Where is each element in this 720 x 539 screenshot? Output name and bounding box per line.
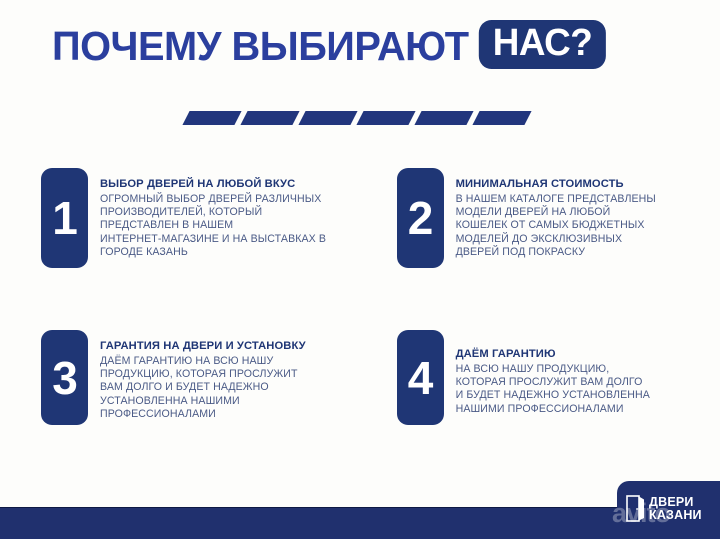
card-line: МОДЕЛЕЙ ДО ЭКСКЛЮЗИВНЫХ xyxy=(456,233,656,246)
card-body: ДАЁМ ГАРАНТИЮ НА ВСЮ НАШУ ПРОДУКЦИЮ, КОТ… xyxy=(444,330,650,416)
stripe xyxy=(356,111,415,125)
card-line: ИНТЕРНЕТ-МАГАЗИНЕ И НА ВЫСТАВКАХ В xyxy=(100,233,326,246)
card-line: ДВЕРЕЙ ПОД ПОКРАСКУ xyxy=(456,246,656,259)
card-line: И БУДЕТ НАДЕЖНО УСТАНОВЛЕННА xyxy=(456,389,650,402)
door-icon xyxy=(626,495,645,522)
benefits-grid: 1 ВЫБОР ДВЕРЕЙ НА ЛЮБОЙ ВКУС ОГРОМНЫЙ ВЫ… xyxy=(0,168,720,425)
card-row: 3 ГАРАНТИЯ НА ДВЕРИ И УСТАНОВКУ ДАЁМ ГАР… xyxy=(0,330,720,425)
card-description: В НАШЕМ КАТАЛОГЕ ПРЕДСТАВЛЕНЫ МОДЕЛИ ДВЕ… xyxy=(456,193,656,259)
card-body: ВЫБОР ДВЕРЕЙ НА ЛЮБОЙ ВКУС ОГРОМНЫЙ ВЫБО… xyxy=(88,168,326,259)
stripe xyxy=(240,111,299,125)
card-line: КОШЕЛЕК ОТ САМЫХ БЮДЖЕТНЫХ xyxy=(456,219,656,232)
card-line: ПРЕДСТАВЛЕН В НАШЕМ xyxy=(100,219,326,232)
card-body: ГАРАНТИЯ НА ДВЕРИ И УСТАНОВКУ ДАЁМ ГАРАН… xyxy=(88,330,306,421)
card-number-badge: 2 xyxy=(397,168,444,268)
card-line: КОТОРАЯ ПРОСЛУЖИТ ВАМ ДОЛГО xyxy=(456,376,650,389)
decorative-stripes xyxy=(186,111,528,125)
stripe xyxy=(472,111,531,125)
card-number-badge: 1 xyxy=(41,168,88,268)
card-line: ОГРОМНЫЙ ВЫБОР ДВЕРЕЙ РАЗЛИЧНЫХ xyxy=(100,193,326,206)
stripe xyxy=(298,111,357,125)
page-title-main: ПОЧЕМУ ВЫБИРАЮТ xyxy=(52,21,469,71)
card-number-badge: 4 xyxy=(397,330,444,425)
card-title: ВЫБОР ДВЕРЕЙ НА ЛЮБОЙ ВКУС xyxy=(100,178,326,191)
card-line: В НАШЕМ КАТАЛОГЕ ПРЕДСТАВЛЕНЫ xyxy=(456,193,656,206)
card-line: ВАМ ДОЛГО И БУДЕТ НАДЕЖНО xyxy=(100,381,306,394)
page-title-badge: НАС? xyxy=(479,20,606,69)
card-title: МИНИМАЛЬНАЯ СТОИМОСТЬ xyxy=(456,178,656,191)
card-description: ДАЁМ ГАРАНТИЮ НА ВСЮ НАШУ ПРОДУКЦИЮ, КОТ… xyxy=(100,355,306,421)
card-line: ПРОДУКЦИЮ, КОТОРАЯ ПРОСЛУЖИТ xyxy=(100,368,306,381)
card-description: НА ВСЮ НАШУ ПРОДУКЦИЮ, КОТОРАЯ ПРОСЛУЖИТ… xyxy=(456,363,650,416)
logo-inner: ДВЕРИ КАЗАНИ xyxy=(626,495,702,522)
card-number-badge: 3 xyxy=(41,330,88,425)
header: ПОЧЕМУ ВЫБИРАЮТНАС? xyxy=(0,0,720,100)
card-line: ДАЁМ ГАРАНТИЮ НА ВСЮ НАШУ xyxy=(100,355,306,368)
brand-logo[interactable]: ДВЕРИ КАЗАНИ xyxy=(617,481,720,539)
card-row: 1 ВЫБОР ДВЕРЕЙ НА ЛЮБОЙ ВКУС ОГРОМНЫЙ ВЫ… xyxy=(0,168,720,268)
page-title: ПОЧЕМУ ВЫБИРАЮТНАС? xyxy=(52,18,606,71)
stripe xyxy=(414,111,473,125)
benefit-card-2: 2 МИНИМАЛЬНАЯ СТОИМОСТЬ В НАШЕМ КАТАЛОГЕ… xyxy=(356,168,720,268)
card-line: МОДЕЛИ ДВЕРЕЙ НА ЛЮБОЙ xyxy=(456,206,656,219)
card-title: ДАЁМ ГАРАНТИЮ xyxy=(456,348,650,361)
logo-line-2: КАЗАНИ xyxy=(649,509,702,522)
card-body: МИНИМАЛЬНАЯ СТОИМОСТЬ В НАШЕМ КАТАЛОГЕ П… xyxy=(444,168,656,259)
card-line: УСТАНОВЛЕННА НАШИМИ xyxy=(100,395,306,408)
card-line: НА ВСЮ НАШУ ПРОДУКЦИЮ, xyxy=(456,363,650,376)
stripe xyxy=(182,111,241,125)
benefit-card-1: 1 ВЫБОР ДВЕРЕЙ НА ЛЮБОЙ ВКУС ОГРОМНЫЙ ВЫ… xyxy=(0,168,356,268)
card-line: ПРОФЕССИОНАЛАМИ xyxy=(100,408,306,421)
card-line: ПРОИЗВОДИТЕЛЕЙ, КОТОРЫЙ xyxy=(100,206,326,219)
logo-words: ДВЕРИ КАЗАНИ xyxy=(649,496,702,522)
card-line: ГОРОДЕ КАЗАНЬ xyxy=(100,246,326,259)
benefit-card-4: 4 ДАЁМ ГАРАНТИЮ НА ВСЮ НАШУ ПРОДУКЦИЮ, К… xyxy=(356,330,720,425)
benefit-card-3: 3 ГАРАНТИЯ НА ДВЕРИ И УСТАНОВКУ ДАЁМ ГАР… xyxy=(0,330,356,425)
card-line: НАШИМИ ПРОФЕССИОНАЛАМИ xyxy=(456,403,650,416)
footer-bar xyxy=(0,507,720,539)
logo-line-1: ДВЕРИ xyxy=(649,496,702,509)
card-description: ОГРОМНЫЙ ВЫБОР ДВЕРЕЙ РАЗЛИЧНЫХ ПРОИЗВОД… xyxy=(100,193,326,259)
card-title: ГАРАНТИЯ НА ДВЕРИ И УСТАНОВКУ xyxy=(100,340,306,353)
